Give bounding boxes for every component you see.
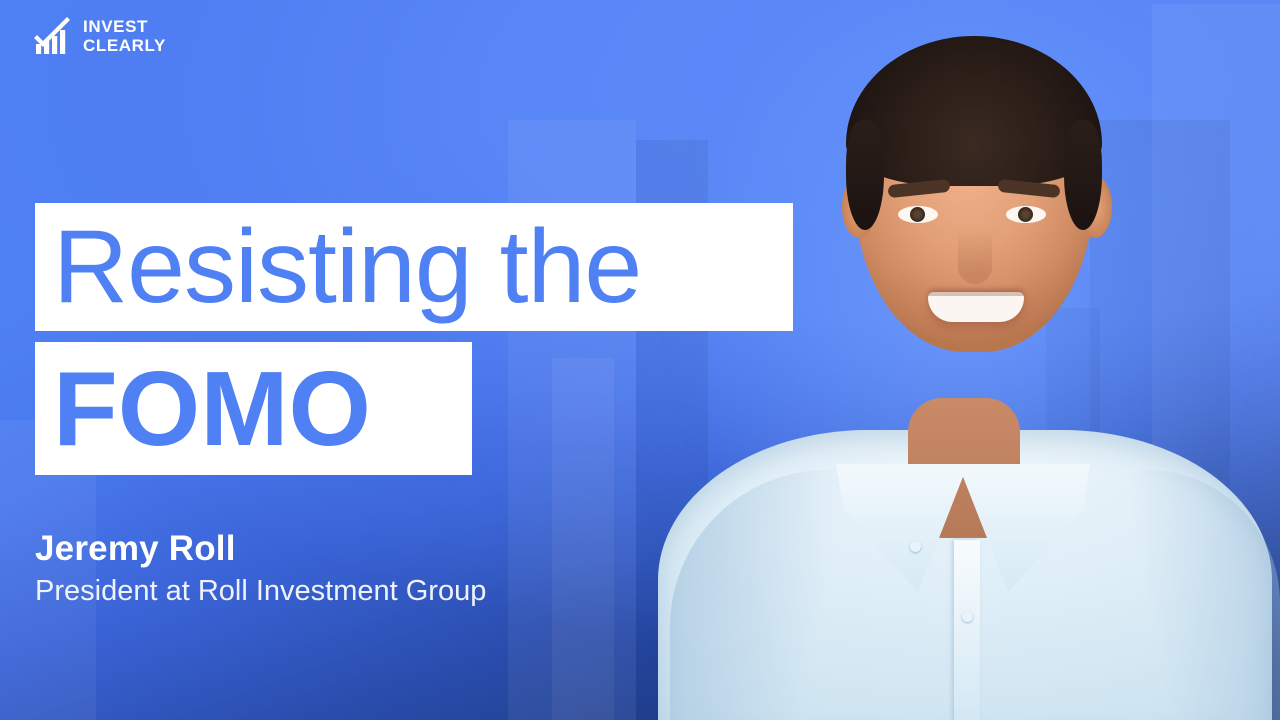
hair-side-right [1064,120,1102,230]
cheek-left [880,268,934,326]
title-line-2-box: FOMO [35,342,472,475]
title-line-2: FOMO [53,356,371,462]
hair-side-left [846,120,884,230]
brand-logo[interactable]: INVEST CLEARLY [33,16,166,56]
chart-check-icon [33,16,73,56]
smile [928,292,1024,322]
eye-right [1006,206,1046,223]
speaker-role: President at Roll Investment Group [35,574,505,608]
title-line-1-box: Resisting the [35,203,793,331]
speaker-name: Jeremy Roll [35,528,555,570]
eye-left [898,206,938,223]
portrait-figure [640,0,1280,720]
brand-name-line1: INVEST [83,17,148,36]
shirt-button-middle [962,611,973,622]
podcast-thumbnail: INVEST CLEARLY Resisting the FOMO Jeremy… [0,0,1280,720]
speaker-portrait [640,0,1280,720]
nose [958,228,992,284]
brand-name: INVEST CLEARLY [83,17,166,55]
shirt-button-top [910,541,921,552]
shirt-shadow-right [1100,470,1280,720]
title-line-1: Resisting the [53,215,641,319]
brand-name-line2: CLEARLY [83,36,166,55]
speaker-info: Jeremy Roll President at Roll Investment… [35,528,555,608]
shirt-placket [954,540,980,720]
